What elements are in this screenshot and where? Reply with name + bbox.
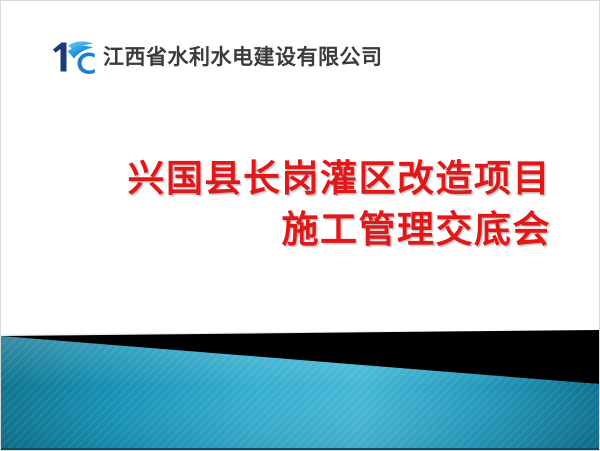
page-title: 兴国县长岗灌区改造项目 施工管理交底会 — [41, 153, 551, 255]
company-name-label: 江西省水利水电建设有限公司 — [103, 47, 383, 68]
banner-graphic — [1, 310, 599, 450]
decorative-banner — [1, 310, 599, 450]
banner-bottom-rule — [1, 448, 599, 450]
title-line-2: 施工管理交底会 — [41, 204, 551, 255]
company-logo-lockup: 江西省水利水电建设有限公司 — [49, 37, 383, 77]
presentation-title-slide: 江西省水利水电建设有限公司 兴国县长岗灌区改造项目 施工管理交底会 — [0, 0, 600, 451]
title-line-1: 兴国县长岗灌区改造项目 — [41, 153, 551, 204]
company-logo-1c-swoosh-icon — [49, 37, 95, 77]
